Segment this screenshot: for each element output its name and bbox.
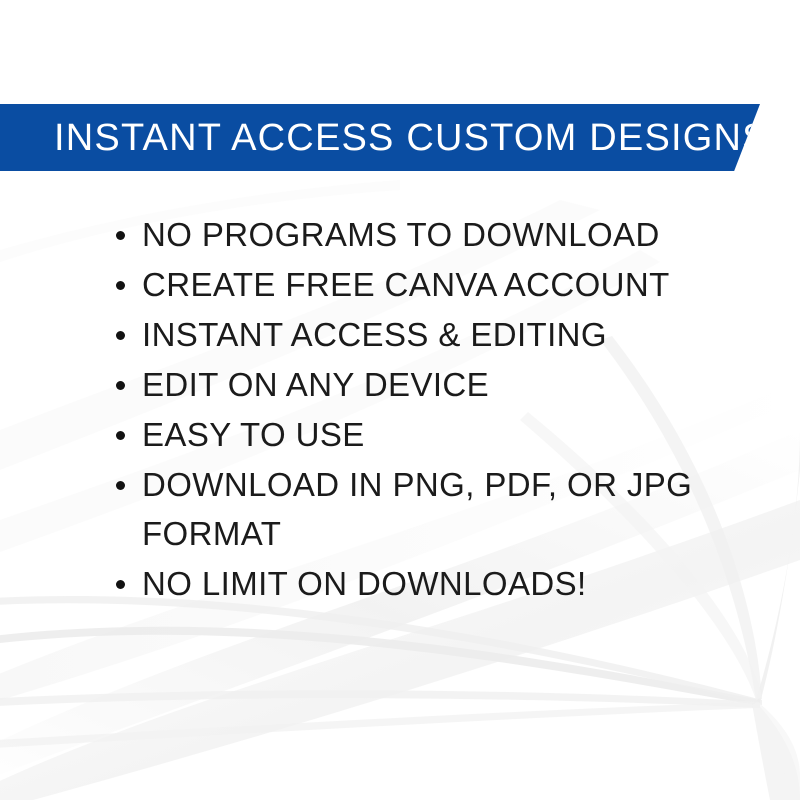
bullet-icon — [116, 231, 125, 240]
bullet-icon — [116, 331, 125, 340]
list-item: DOWNLOAD IN PNG, PDF, OR JPG FORMAT — [110, 460, 710, 558]
list-item: INSTANT ACCESS & EDITING — [110, 310, 710, 359]
list-item-label: NO LIMIT ON DOWNLOADS! — [142, 559, 710, 608]
list-item: NO LIMIT ON DOWNLOADS! — [110, 559, 710, 608]
bullet-icon — [116, 281, 125, 290]
list-item-label: DOWNLOAD IN PNG, PDF, OR JPG FORMAT — [142, 460, 710, 558]
header-banner: INSTANT ACCESS CUSTOM DESIGNS — [0, 104, 760, 171]
bullet-icon — [116, 580, 125, 589]
feature-list: NO PROGRAMS TO DOWNLOAD CREATE FREE CANV… — [110, 210, 710, 609]
marketing-graphic-canvas: INSTANT ACCESS CUSTOM DESIGNS NO PROGRAM… — [0, 0, 800, 800]
list-item-label: EASY TO USE — [142, 410, 710, 459]
banner-title: INSTANT ACCESS CUSTOM DESIGNS — [0, 119, 769, 157]
list-item: NO PROGRAMS TO DOWNLOAD — [110, 210, 710, 259]
list-item-label: CREATE FREE CANVA ACCOUNT — [142, 260, 710, 309]
list-item: EDIT ON ANY DEVICE — [110, 360, 710, 409]
list-item-label: EDIT ON ANY DEVICE — [142, 360, 710, 409]
list-item-label: NO PROGRAMS TO DOWNLOAD — [142, 210, 710, 259]
list-item: CREATE FREE CANVA ACCOUNT — [110, 260, 710, 309]
bullet-icon — [116, 431, 125, 440]
list-item-label: INSTANT ACCESS & EDITING — [142, 310, 710, 359]
list-item: EASY TO USE — [110, 410, 710, 459]
bullet-icon — [116, 381, 125, 390]
bullet-icon — [116, 481, 125, 490]
